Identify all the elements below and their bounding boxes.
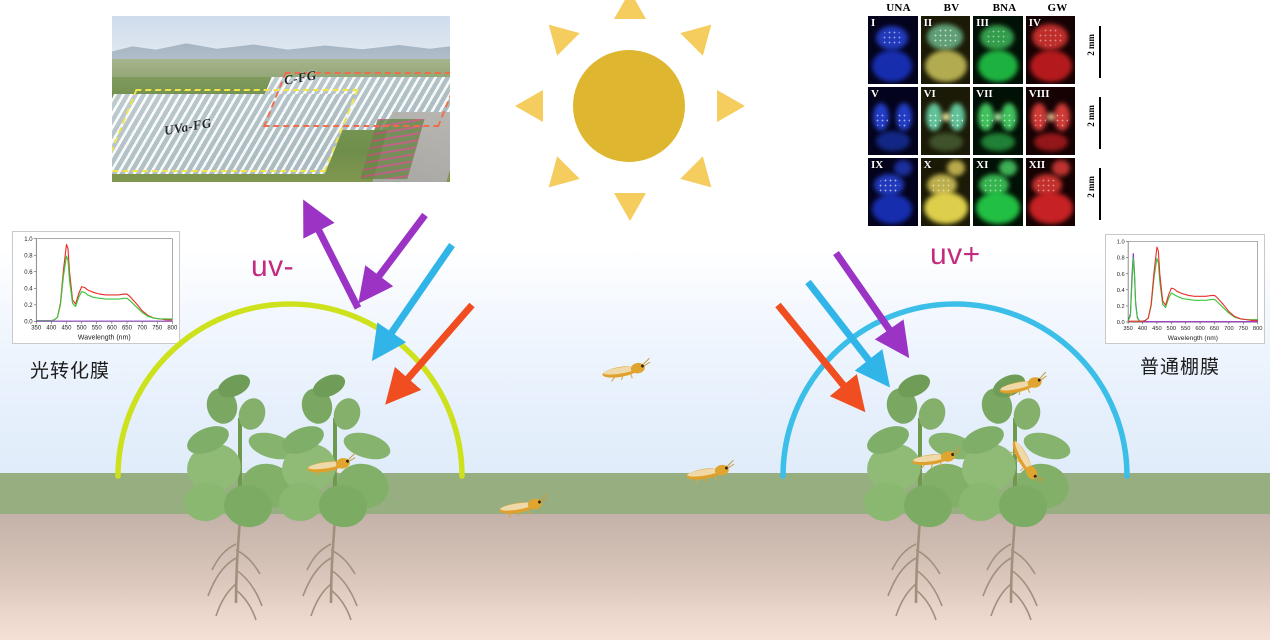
fluorescence-column-headers: UNA BV BNA GW <box>872 2 1084 16</box>
fluorescence-cell: IX <box>868 158 918 226</box>
panel-label: XI <box>976 159 988 171</box>
svg-text:0.4: 0.4 <box>24 286 33 292</box>
svg-text:0.8: 0.8 <box>1117 256 1125 262</box>
svg-text:700: 700 <box>1224 326 1233 332</box>
panel-label: IX <box>871 159 883 171</box>
plant <box>277 370 394 620</box>
panel-label: X <box>924 159 932 171</box>
plant <box>957 370 1074 620</box>
fluorescence-cell: II <box>921 16 971 84</box>
fluorescence-row: V VI VII <box>868 87 1108 155</box>
fluorescence-cell: XI <box>973 158 1023 226</box>
panel-label: III <box>976 17 989 29</box>
scale-bar-group: 2 mm <box>1078 158 1108 226</box>
scale-bar-label: 2 mm <box>1086 176 1096 198</box>
fluorescence-panel: UNA BV BNA GW I II III <box>868 2 1108 228</box>
sun-ray <box>515 90 543 122</box>
uv-minus-label: uv- <box>251 250 294 284</box>
spectrum-series-uv-peak-violet <box>1128 254 1258 322</box>
fluorescence-cell: V <box>868 87 918 155</box>
spectrum-series-red-curve <box>1128 247 1258 321</box>
thrips-on-leaf-right <box>910 448 962 468</box>
sun-ray <box>614 0 646 19</box>
spectrum-series-uv-peak-green <box>1128 258 1258 322</box>
spectrum-curves <box>1128 247 1258 322</box>
sun-icon <box>540 18 720 193</box>
svg-text:0.0: 0.0 <box>24 320 33 326</box>
scale-bar-group: 2 mm <box>1078 16 1108 84</box>
panel-label: XII <box>1029 159 1046 171</box>
svg-text:450: 450 <box>61 326 72 332</box>
panel-label: II <box>924 17 933 29</box>
sun-ray <box>680 13 722 55</box>
left-film-label: 光转化膜 <box>30 356 110 383</box>
panel-label: IV <box>1029 17 1041 29</box>
thrips-migrating <box>600 360 652 380</box>
fluorescence-cell: VI <box>921 87 971 155</box>
fluorescence-row: IX X XI XII <box>868 158 1108 226</box>
column-header-bv: BV <box>925 2 978 16</box>
thrips-on-leaf-right <box>1000 452 1052 472</box>
fluorescence-cell: X <box>921 158 971 226</box>
svg-text:800: 800 <box>1253 326 1262 332</box>
y-tick-labels: 0.00.20.40.60.81.0 <box>24 237 36 326</box>
scale-bar-line <box>1099 26 1101 78</box>
thrips-on-leaf-left <box>305 455 357 475</box>
x-tick-labels: 350400450500550600650700750800 <box>1123 322 1262 332</box>
fluorescence-cell: XII <box>1026 158 1076 226</box>
svg-text:500: 500 <box>77 326 88 332</box>
column-header-gw: GW <box>1031 2 1084 16</box>
svg-text:600: 600 <box>1195 326 1204 332</box>
fluorescence-cell: IV <box>1026 16 1076 84</box>
svg-text:550: 550 <box>92 326 103 332</box>
plant-group-right <box>866 358 1076 628</box>
scale-bar-label: 2 mm <box>1086 105 1096 127</box>
svg-text:500: 500 <box>1167 326 1176 332</box>
svg-text:550: 550 <box>1181 326 1190 332</box>
right-film-label: 普通棚膜 <box>1140 352 1220 379</box>
svg-text:0.2: 0.2 <box>24 303 33 309</box>
sun-ray <box>537 156 579 198</box>
thrips-on-leaf-right <box>997 375 1049 395</box>
thrips-migrating <box>497 496 549 516</box>
scale-bar-line <box>1099 97 1101 149</box>
x-axis-title: Wavelength (nm) <box>1168 335 1218 342</box>
svg-text:1.0: 1.0 <box>1117 240 1125 246</box>
thrips-migrating <box>684 462 736 482</box>
fluorescence-cell: I <box>868 16 918 84</box>
fluorescence-cell: VII <box>973 87 1023 155</box>
scale-bar-group: 2 mm <box>1078 87 1108 155</box>
scale-bar-label: 2 mm <box>1086 34 1096 56</box>
column-header-una: UNA <box>872 2 925 16</box>
svg-text:750: 750 <box>1239 326 1248 332</box>
uva-plot-outline <box>112 89 359 172</box>
sun-disc <box>573 50 685 162</box>
graphical-abstract: C-FG UVa-FG UNA BV BNA GW I <box>0 0 1270 640</box>
fluorescence-row: I II III IV 2 mm <box>868 16 1108 84</box>
fluorescence-cell: VIII <box>1026 87 1076 155</box>
svg-text:0.6: 0.6 <box>24 270 33 276</box>
plant-group-left <box>186 358 396 628</box>
svg-text:0.8: 0.8 <box>24 253 33 259</box>
panel-label: VII <box>976 88 993 100</box>
svg-text:450: 450 <box>1152 326 1161 332</box>
uv-plus-label: uv+ <box>930 238 981 272</box>
sun-ray <box>717 90 745 122</box>
svg-text:1.0: 1.0 <box>24 237 33 243</box>
aerial-greenhouse-photo: C-FG UVa-FG <box>112 16 450 182</box>
svg-text:400: 400 <box>1138 326 1147 332</box>
column-header-bna: BNA <box>978 2 1031 16</box>
svg-text:350: 350 <box>31 326 42 332</box>
svg-text:650: 650 <box>1210 326 1219 332</box>
fluorescence-cell: III <box>973 16 1023 84</box>
scale-bar-line <box>1099 168 1101 220</box>
sun-ray <box>680 156 722 198</box>
sun-ray <box>614 193 646 221</box>
panel-label: I <box>871 17 875 29</box>
panel-label: VIII <box>1029 88 1050 100</box>
svg-text:400: 400 <box>46 326 57 332</box>
panel-label: V <box>871 88 879 100</box>
axes <box>1128 241 1258 322</box>
panel-label: VI <box>924 88 936 100</box>
sun-ray <box>537 13 579 55</box>
svg-text:0.6: 0.6 <box>1117 272 1125 278</box>
